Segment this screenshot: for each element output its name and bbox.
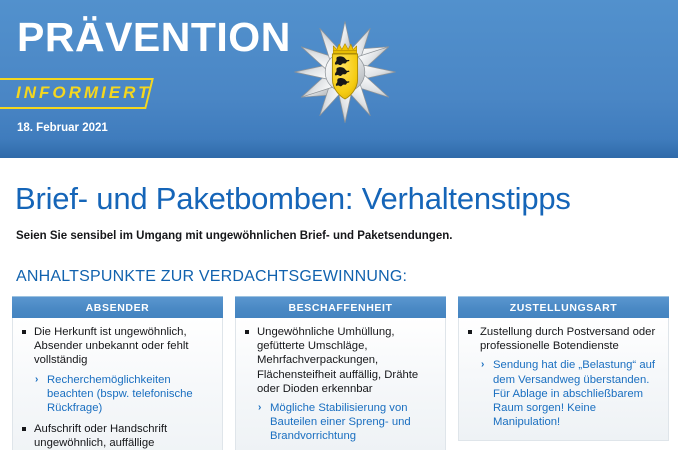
column-body-zustellungsart: Zustellung durch Postversand oder profes… (458, 318, 669, 441)
criteria-columns: ABSENDER Die Herkunft ist ungewöhnlich, … (12, 296, 668, 450)
column-body-absender: Die Herkunft ist ungewöhnlich, Absender … (12, 318, 223, 450)
sub-list: › Mögliche Stabilisierung von Bauteilen … (257, 401, 437, 444)
square-bullet-icon (22, 427, 26, 431)
list-item: Ungewöhnliche Umhüllung, gefütterte Umsc… (242, 325, 437, 444)
chevron-right-icon: › (35, 373, 38, 387)
square-bullet-icon (22, 330, 26, 334)
square-bullet-icon (245, 330, 249, 334)
list-item-text: Die Herkunft ist ungewöhnlich, Absender … (34, 326, 189, 366)
list-item-text: Aufschrift oder Handschrift ungewöhnlich… (34, 423, 167, 450)
brand-title: PRÄVENTION (17, 17, 291, 58)
criteria-list: Die Herkunft ist ungewöhnlich, Absender … (19, 325, 214, 450)
list-item: Die Herkunft ist ungewöhnlich, Absender … (19, 325, 214, 415)
column-header-absender: ABSENDER (12, 296, 223, 318)
prevention-flyer-page: PRÄVENTION INFORMIERT 18. Februar 2021 (0, 0, 678, 450)
sub-list-item-text: Recherchemöglichkeiten beachten (bspw. t… (47, 374, 193, 414)
sub-list: › Recherchemöglichkeiten beachten (bspw.… (34, 373, 214, 416)
sub-list-item-text: Sendung hat die „Belastung“ auf dem Vers… (493, 359, 655, 428)
column-beschaffenheit: BESCHAFFENHEIT Ungewöhnliche Umhüllung, … (235, 296, 446, 450)
publication-date: 18. Februar 2021 (17, 122, 108, 134)
list-item-text: Zustellung durch Postversand oder profes… (480, 326, 655, 352)
sub-list-item: › Recherchemöglichkeiten beachten (bspw.… (34, 373, 214, 416)
section-heading: ANHALTSPUNKTE ZUR VERDACHTSGEWINNUNG: (16, 268, 407, 286)
chevron-right-icon: › (258, 401, 261, 415)
police-star-badge-icon (291, 18, 399, 126)
chevron-right-icon: › (481, 358, 484, 372)
page-title: Brief- und Paketbomben: Verhaltenstipps (15, 182, 571, 216)
column-header-beschaffenheit: BESCHAFFENHEIT (235, 296, 446, 318)
sub-list: › Sendung hat die „Belastung“ auf dem Ve… (480, 358, 660, 429)
sub-list-item-text: Mögliche Stabilisierung von Bauteilen ei… (270, 402, 411, 442)
page-subtitle: Seien Sie sensibel im Umgang mit ungewöh… (16, 230, 452, 242)
page-header: PRÄVENTION INFORMIERT 18. Februar 2021 (0, 0, 678, 158)
document-body: Brief- und Paketbomben: Verhaltenstipps … (0, 158, 678, 450)
list-item: Zustellung durch Postversand oder profes… (465, 325, 660, 429)
list-item: Aufschrift oder Handschrift ungewöhnlich… (19, 422, 214, 450)
column-header-zustellungsart: ZUSTELLUNGSART (458, 296, 669, 318)
column-absender: ABSENDER Die Herkunft ist ungewöhnlich, … (12, 296, 223, 450)
informiert-badge: INFORMIERT (0, 78, 150, 109)
informiert-badge-label: INFORMIERT (16, 83, 151, 103)
square-bullet-icon (468, 330, 472, 334)
list-item-text: Ungewöhnliche Umhüllung, gefütterte Umsc… (257, 326, 418, 395)
column-body-beschaffenheit: Ungewöhnliche Umhüllung, gefütterte Umsc… (235, 318, 446, 450)
column-zustellungsart: ZUSTELLUNGSART Zustellung durch Postvers… (458, 296, 669, 450)
sub-list-item: › Sendung hat die „Belastung“ auf dem Ve… (480, 358, 660, 429)
criteria-list: Ungewöhnliche Umhüllung, gefütterte Umsc… (242, 325, 437, 444)
sub-list-item: › Mögliche Stabilisierung von Bauteilen … (257, 401, 437, 444)
criteria-list: Zustellung durch Postversand oder profes… (465, 325, 660, 429)
